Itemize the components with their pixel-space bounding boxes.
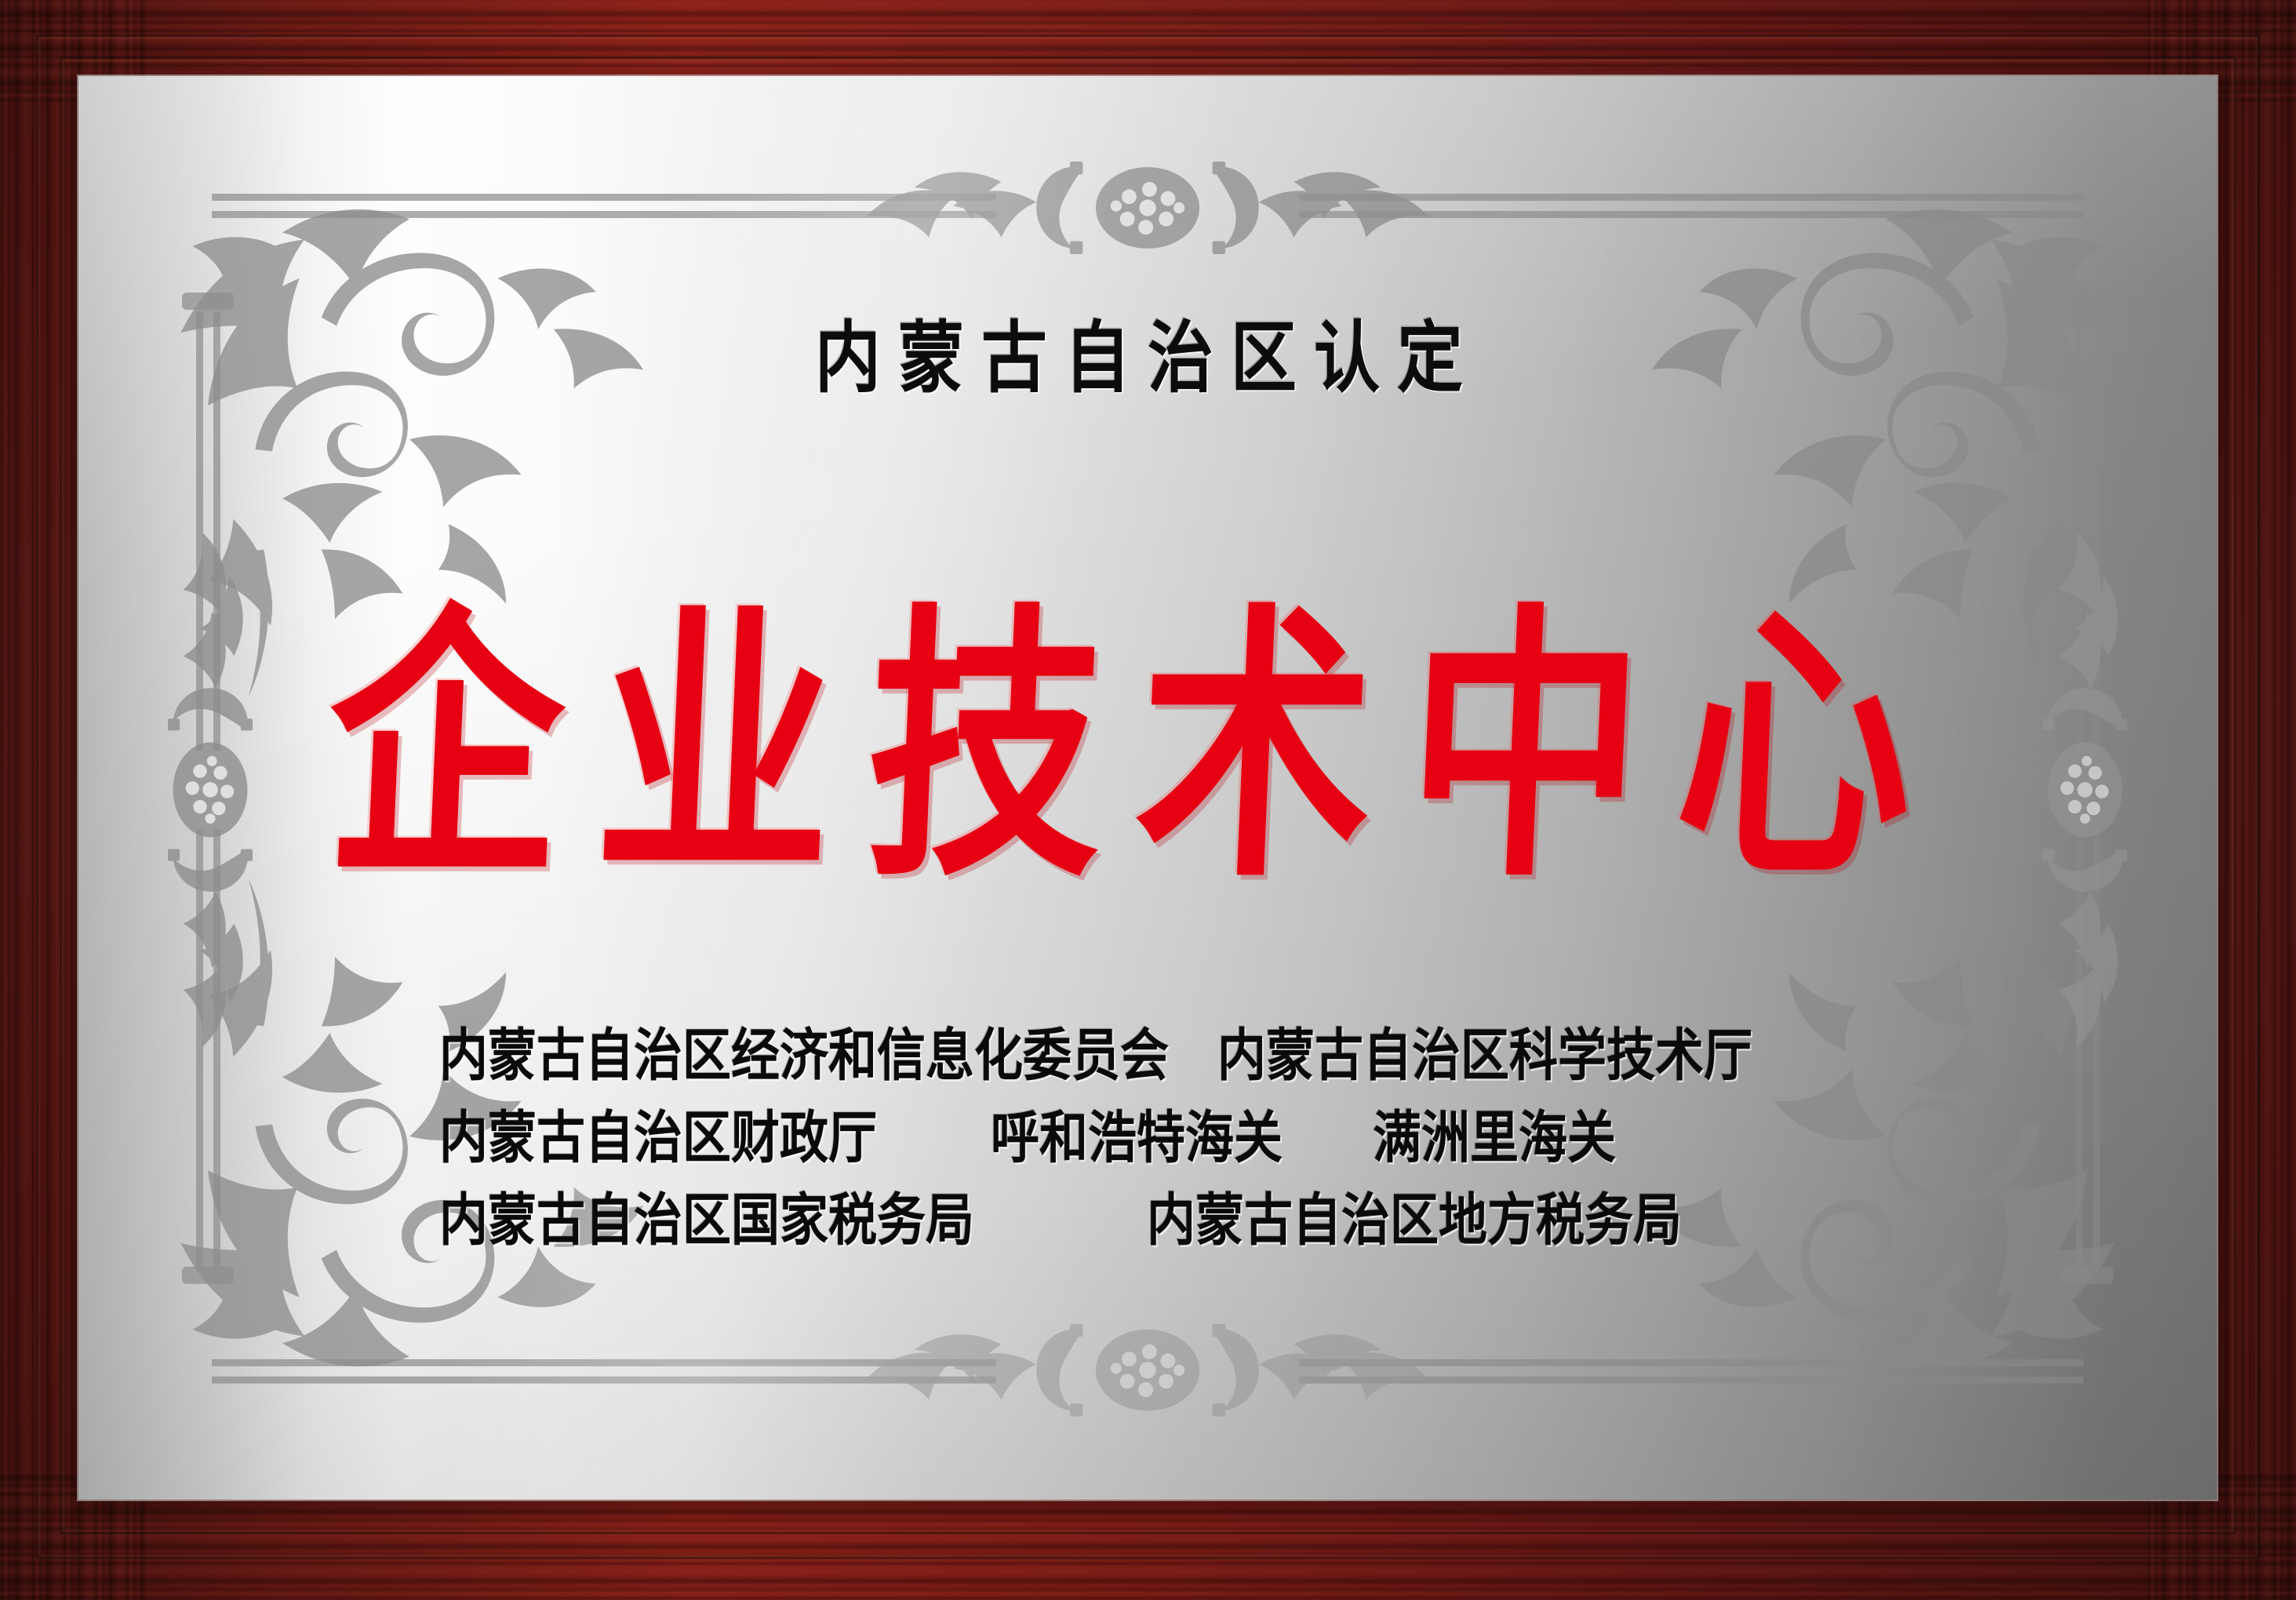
award-title: 企业技术中心 — [78, 515, 2217, 930]
agency-name: 满洲里海关 — [1373, 1092, 1616, 1173]
silver-plate: 内蒙古自治区认定 企业技术中心 内蒙古自治区经济和信息化委员会 内蒙古自治区科学… — [78, 76, 2217, 1500]
issuing-agencies: 内蒙古自治区经济和信息化委员会 内蒙古自治区科学技术厅 内蒙古自治区财政厅 呼和… — [204, 1009, 2091, 1256]
certification-heading: 内蒙古自治区认定 — [78, 296, 2217, 408]
agency-name: 内蒙古自治区科学技术厅 — [1217, 1009, 1752, 1091]
agency-name: 内蒙古自治区经济和信息化委员会 — [439, 1009, 1169, 1091]
award-plaque: 内蒙古自治区认定 企业技术中心 内蒙古自治区经济和信息化委员会 内蒙古自治区科学… — [0, 0, 2296, 1600]
agency-name: 内蒙古自治区财政厅 — [439, 1092, 877, 1173]
plaque-content: 内蒙古自治区认定 企业技术中心 内蒙古自治区经济和信息化委员会 内蒙古自治区科学… — [78, 76, 2217, 1500]
agency-row: 内蒙古自治区经济和信息化委员会 内蒙古自治区科学技术厅 — [204, 1009, 2091, 1105]
agency-name: 呼和浩特海关 — [991, 1092, 1283, 1173]
agency-name: 内蒙古自治区国家税务局 — [439, 1174, 974, 1256]
agency-row: 内蒙古自治区国家税务局 内蒙古自治区地方税务局 — [204, 1174, 2091, 1270]
agency-name: 内蒙古自治区地方税务局 — [1147, 1174, 1682, 1256]
agency-row: 内蒙古自治区财政厅 呼和浩特海关 满洲里海关 — [204, 1092, 2091, 1187]
